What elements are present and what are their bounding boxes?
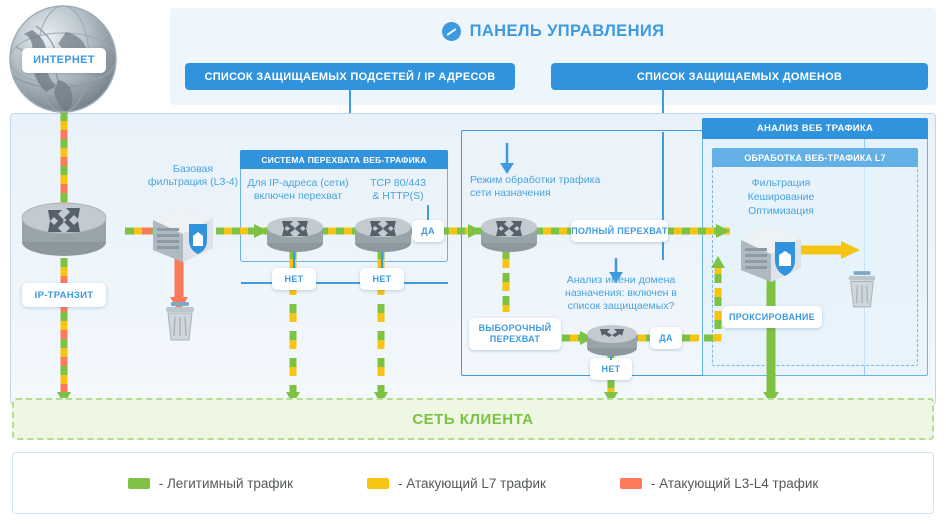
dashboard-icon (442, 22, 461, 41)
l7-operations-caption: Фильтрация Кеширование Оптимизация (716, 176, 846, 218)
trash-icon (846, 268, 878, 310)
proxying-label-text: ПРОКСИРОВАНИЕ (729, 312, 815, 323)
control-panel-title-text: ПАНЕЛЬ УПРАВЛЕНИЯ (470, 22, 665, 41)
legend-label-l34: - Атакующий L3-L4 трафик (651, 476, 818, 491)
intercept-no-label-2-text: НЕТ (373, 274, 392, 285)
server-shield-icon (145, 196, 219, 268)
banner-protected-subnets-label: СПИСОК ЗАЩИЩАЕМЫХ ПОДСЕТЕЙ / IP АДРЕСОВ (204, 71, 495, 83)
intercept-q2-line2: & HTTP(S) (356, 190, 440, 203)
internet-label: ИНТЕРНЕТ (22, 48, 106, 73)
ip-transit-label-text: IP-ТРАНЗИТ (35, 290, 94, 301)
intercept-q2-caption: TCP 80/443 & HTTP(S) (356, 177, 440, 203)
intercept-q1-line1: Для IP-адреса (сети) (243, 177, 353, 190)
legend-item: - Атакующий L3-L4 трафик (620, 476, 818, 491)
group-web-analysis-label: АНАЛИЗ ВЕБ ТРАФИКА (757, 123, 873, 134)
legend-label-legit: - Легитимный трафик (159, 476, 293, 491)
domain-yes-label-text: ДА (659, 333, 673, 344)
destination-mode-caption: Режим обработки трафика сети назначения (470, 174, 630, 200)
intercept-q1-line2: включен перехват (243, 190, 353, 203)
intercept-yes-label: ДА (412, 220, 444, 242)
destination-mode-arrow (495, 143, 519, 175)
destination-mode-line2: сети назначения (470, 187, 630, 200)
router-icon (264, 212, 326, 254)
legend-item: - Легитимный трафик (128, 476, 293, 491)
banner-protected-domains[interactable]: СПИСОК ЗАЩИЩАЕМЫХ ДОМЕНОВ (551, 63, 928, 90)
legend: - Легитимный трафик - Атакующий L7 трафи… (12, 452, 934, 514)
proxying-label: ПРОКСИРОВАНИЕ (722, 306, 822, 328)
legend-swatch-legit (128, 478, 150, 489)
ip-transit-label: IP-ТРАНЗИТ (22, 283, 106, 307)
l7-operation-2: Кеширование (716, 190, 846, 204)
legend-swatch-l34 (620, 478, 642, 489)
selective-intercept-line2: ПЕРЕХВАТ (490, 334, 540, 345)
group-l7-processing-label: ОБРАБОТКА ВЕБ-ТРАФИКА L7 (744, 153, 886, 163)
base-filter-caption-line2: фильтрация (L3-4) (128, 176, 258, 189)
intercept-no-label-1: НЕТ (272, 268, 316, 290)
l7-operation-1: Фильтрация (716, 176, 846, 190)
intercept-q1-caption: Для IP-адреса (сети) включен перехват (243, 177, 353, 203)
base-filter-caption-line1: Базовая (128, 163, 258, 176)
router-icon (584, 320, 640, 358)
domain-no-connector (610, 356, 612, 360)
internet-label-text: ИНТЕРНЕТ (33, 55, 95, 66)
banner-protected-subnets[interactable]: СПИСОК ЗАЩИЩАЕМЫХ ПОДСЕТЕЙ / IP АДРЕСОВ (185, 63, 515, 90)
router-icon (478, 212, 540, 254)
domain-question-line2: назначения: включен в (536, 287, 706, 300)
selective-intercept-line1: ВЫБОРОЧНЫЙ (479, 323, 552, 334)
group-web-analysis-header: АНАЛИЗ ВЕБ ТРАФИКА (702, 118, 928, 139)
group-l7-processing-header: ОБРАБОТКА ВЕБ-ТРАФИКА L7 (712, 148, 918, 167)
diagram-root: { "panel": { "title": "ПАНЕЛЬ УПРАВЛЕНИЯ… (0, 0, 946, 526)
domain-yes-label: ДА (650, 327, 682, 349)
legend-swatch-l7 (367, 478, 389, 489)
legend-label-l7: - Атакующий L7 трафик (398, 476, 546, 491)
group-intercept-system-header: СИСТЕМА ПЕРЕХВАТА ВЕБ-ТРАФИКА (240, 150, 448, 169)
router-icon (18, 196, 110, 258)
server-shield-icon (733, 216, 809, 288)
client-network-label: СЕТЬ КЛИЕНТА (412, 411, 533, 428)
intercept-yes-label-text: ДА (421, 226, 435, 237)
destination-mode-line1: Режим обработки трафика (470, 174, 630, 187)
domain-question-caption: Анализ имени домена назначения: включен … (536, 274, 706, 313)
legend-item: - Атакующий L7 трафик (367, 476, 546, 491)
domain-no-label: НЕТ (590, 358, 632, 380)
intercept-no-label-2: НЕТ (360, 268, 404, 290)
control-panel-title: ПАНЕЛЬ УПРАВЛЕНИЯ (170, 16, 936, 46)
banner-protected-domains-label: СПИСОК ЗАЩИЩАЕМЫХ ДОМЕНОВ (637, 71, 842, 83)
group-intercept-system-label: СИСТЕМА ПЕРЕХВАТА ВЕБ-ТРАФИКА (261, 155, 426, 165)
full-intercept-label-text: ПОЛНЫЙ ПЕРЕХВАТ (571, 226, 667, 237)
intercept-q2-line1: TCP 80/443 (356, 177, 440, 190)
client-network-strip: СЕТЬ КЛИЕНТА (12, 398, 934, 440)
selective-intercept-label: ВЫБОРОЧНЫЙ ПЕРЕХВАТ (469, 318, 561, 350)
domain-no-label-text: НЕТ (602, 364, 621, 375)
full-intercept-label: ПОЛНЫЙ ПЕРЕХВАТ (571, 220, 668, 242)
domain-question-line3: список защищаемых? (536, 300, 706, 313)
router-icon (352, 212, 414, 254)
domain-question-line1: Анализ имени домена (536, 274, 706, 287)
trash-icon (163, 300, 197, 342)
base-filter-caption: Базовая фильтрация (L3-4) (128, 163, 258, 189)
intercept-no-label-1-text: НЕТ (285, 274, 304, 285)
